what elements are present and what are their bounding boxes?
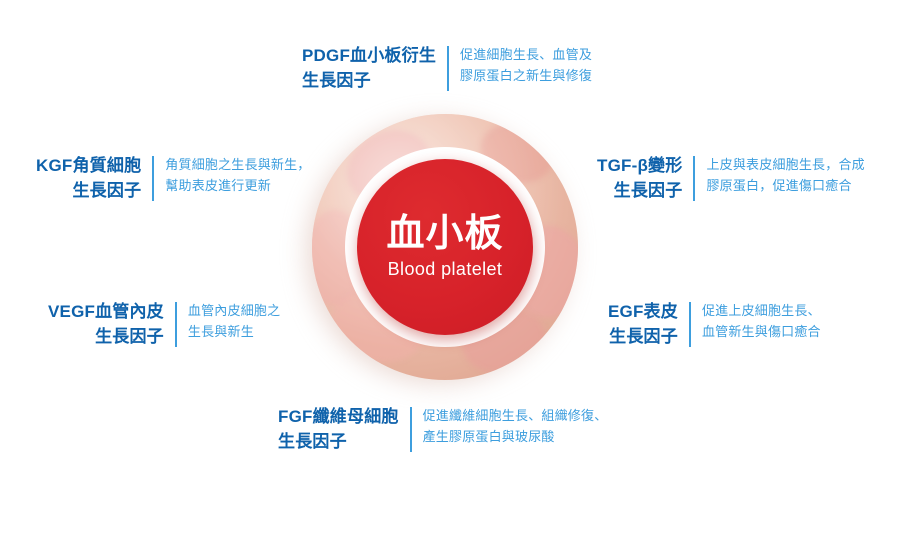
callout-desc-line-2: 膠原蛋白之新生與修復	[460, 65, 592, 86]
callout-desc-line-1: 促進纖維細胞生長、組織修復、	[423, 405, 608, 426]
callout-divider	[175, 302, 177, 347]
callout-title-line-2: 生長因子	[48, 325, 164, 350]
platelet-graphic: 血小板 Blood platelet	[312, 114, 578, 380]
callout-desc-line-2: 生長與新生	[188, 321, 280, 342]
callout-description: 促進纖維細胞生長、組織修復、 產生膠原蛋白與玻尿酸	[423, 405, 608, 447]
callout-title: TGF-β變形 生長因子	[597, 154, 682, 203]
callout-title-line-1: FGF纖維母細胞	[278, 405, 399, 430]
callout-desc-line-2: 膠原蛋白，促進傷口癒合	[706, 175, 864, 196]
core-title-english: Blood platelet	[388, 260, 503, 280]
infographic-canvas: 血小板 Blood platelet PDGF血小板衍生 生長因子 促進細胞生長…	[0, 0, 900, 550]
callout-desc-line-1: 血管內皮細胞之	[188, 300, 280, 321]
callout-divider	[447, 46, 449, 91]
callout-title: FGF纖維母細胞 生長因子	[278, 405, 399, 454]
callout-description: 血管內皮細胞之 生長與新生	[188, 300, 280, 342]
callout-fgf[interactable]: FGF纖維母細胞 生長因子 促進纖維細胞生長、組織修復、 產生膠原蛋白與玻尿酸	[278, 405, 607, 454]
callout-description: 角質細胞之生長與新生， 幫助表皮進行更新	[165, 154, 310, 196]
callout-egf[interactable]: EGF表皮 生長因子 促進上皮細胞生長、 血管新生與傷口癒合	[608, 300, 821, 349]
callout-title-line-1: PDGF血小板衍生	[302, 44, 436, 69]
callout-title: KGF角質細胞 生長因子	[36, 154, 141, 203]
callout-description: 上皮與表皮細胞生長，合成 膠原蛋白，促進傷口癒合	[706, 154, 864, 196]
callout-divider	[693, 156, 695, 201]
callout-pdgf[interactable]: PDGF血小板衍生 生長因子 促進細胞生長、血管及 膠原蛋白之新生與修復	[302, 44, 592, 93]
callout-divider	[152, 156, 154, 201]
callout-title: EGF表皮 生長因子	[608, 300, 678, 349]
callout-desc-line-1: 促進上皮細胞生長、	[702, 300, 821, 321]
callout-title-line-1: KGF角質細胞	[36, 154, 141, 179]
callout-desc-line-1: 促進細胞生長、血管及	[460, 44, 592, 65]
callout-title-line-2: 生長因子	[608, 325, 678, 350]
callout-title: PDGF血小板衍生 生長因子	[302, 44, 436, 93]
callout-title-line-1: VEGF血管內皮	[48, 300, 164, 325]
callout-title-line-2: 生長因子	[302, 69, 436, 94]
callout-title-line-2: 生長因子	[278, 430, 399, 455]
callout-title-line-2: 生長因子	[36, 179, 141, 204]
callout-title-line-1: TGF-β變形	[597, 154, 682, 179]
callout-divider	[410, 407, 412, 452]
callout-title: VEGF血管內皮 生長因子	[48, 300, 164, 349]
callout-title-line-1: EGF表皮	[608, 300, 678, 325]
callout-desc-line-2: 產生膠原蛋白與玻尿酸	[423, 426, 608, 447]
callout-title-line-2: 生長因子	[597, 179, 682, 204]
core-title-chinese: 血小板	[386, 214, 503, 256]
callout-divider	[689, 302, 691, 347]
callout-vegf[interactable]: VEGF血管內皮 生長因子 血管內皮細胞之 生長與新生	[48, 300, 280, 349]
callout-description: 促進上皮細胞生長、 血管新生與傷口癒合	[702, 300, 821, 342]
callout-desc-line-2: 幫助表皮進行更新	[165, 175, 310, 196]
callout-kgf[interactable]: KGF角質細胞 生長因子 角質細胞之生長與新生， 幫助表皮進行更新	[36, 154, 311, 203]
callout-desc-line-2: 血管新生與傷口癒合	[702, 321, 821, 342]
callout-desc-line-1: 角質細胞之生長與新生，	[165, 154, 310, 175]
callout-description: 促進細胞生長、血管及 膠原蛋白之新生與修復	[460, 44, 592, 86]
platelet-core: 血小板 Blood platelet	[357, 159, 533, 335]
callout-tgf-beta[interactable]: TGF-β變形 生長因子 上皮與表皮細胞生長，合成 膠原蛋白，促進傷口癒合	[597, 154, 865, 203]
callout-desc-line-1: 上皮與表皮細胞生長，合成	[706, 154, 864, 175]
